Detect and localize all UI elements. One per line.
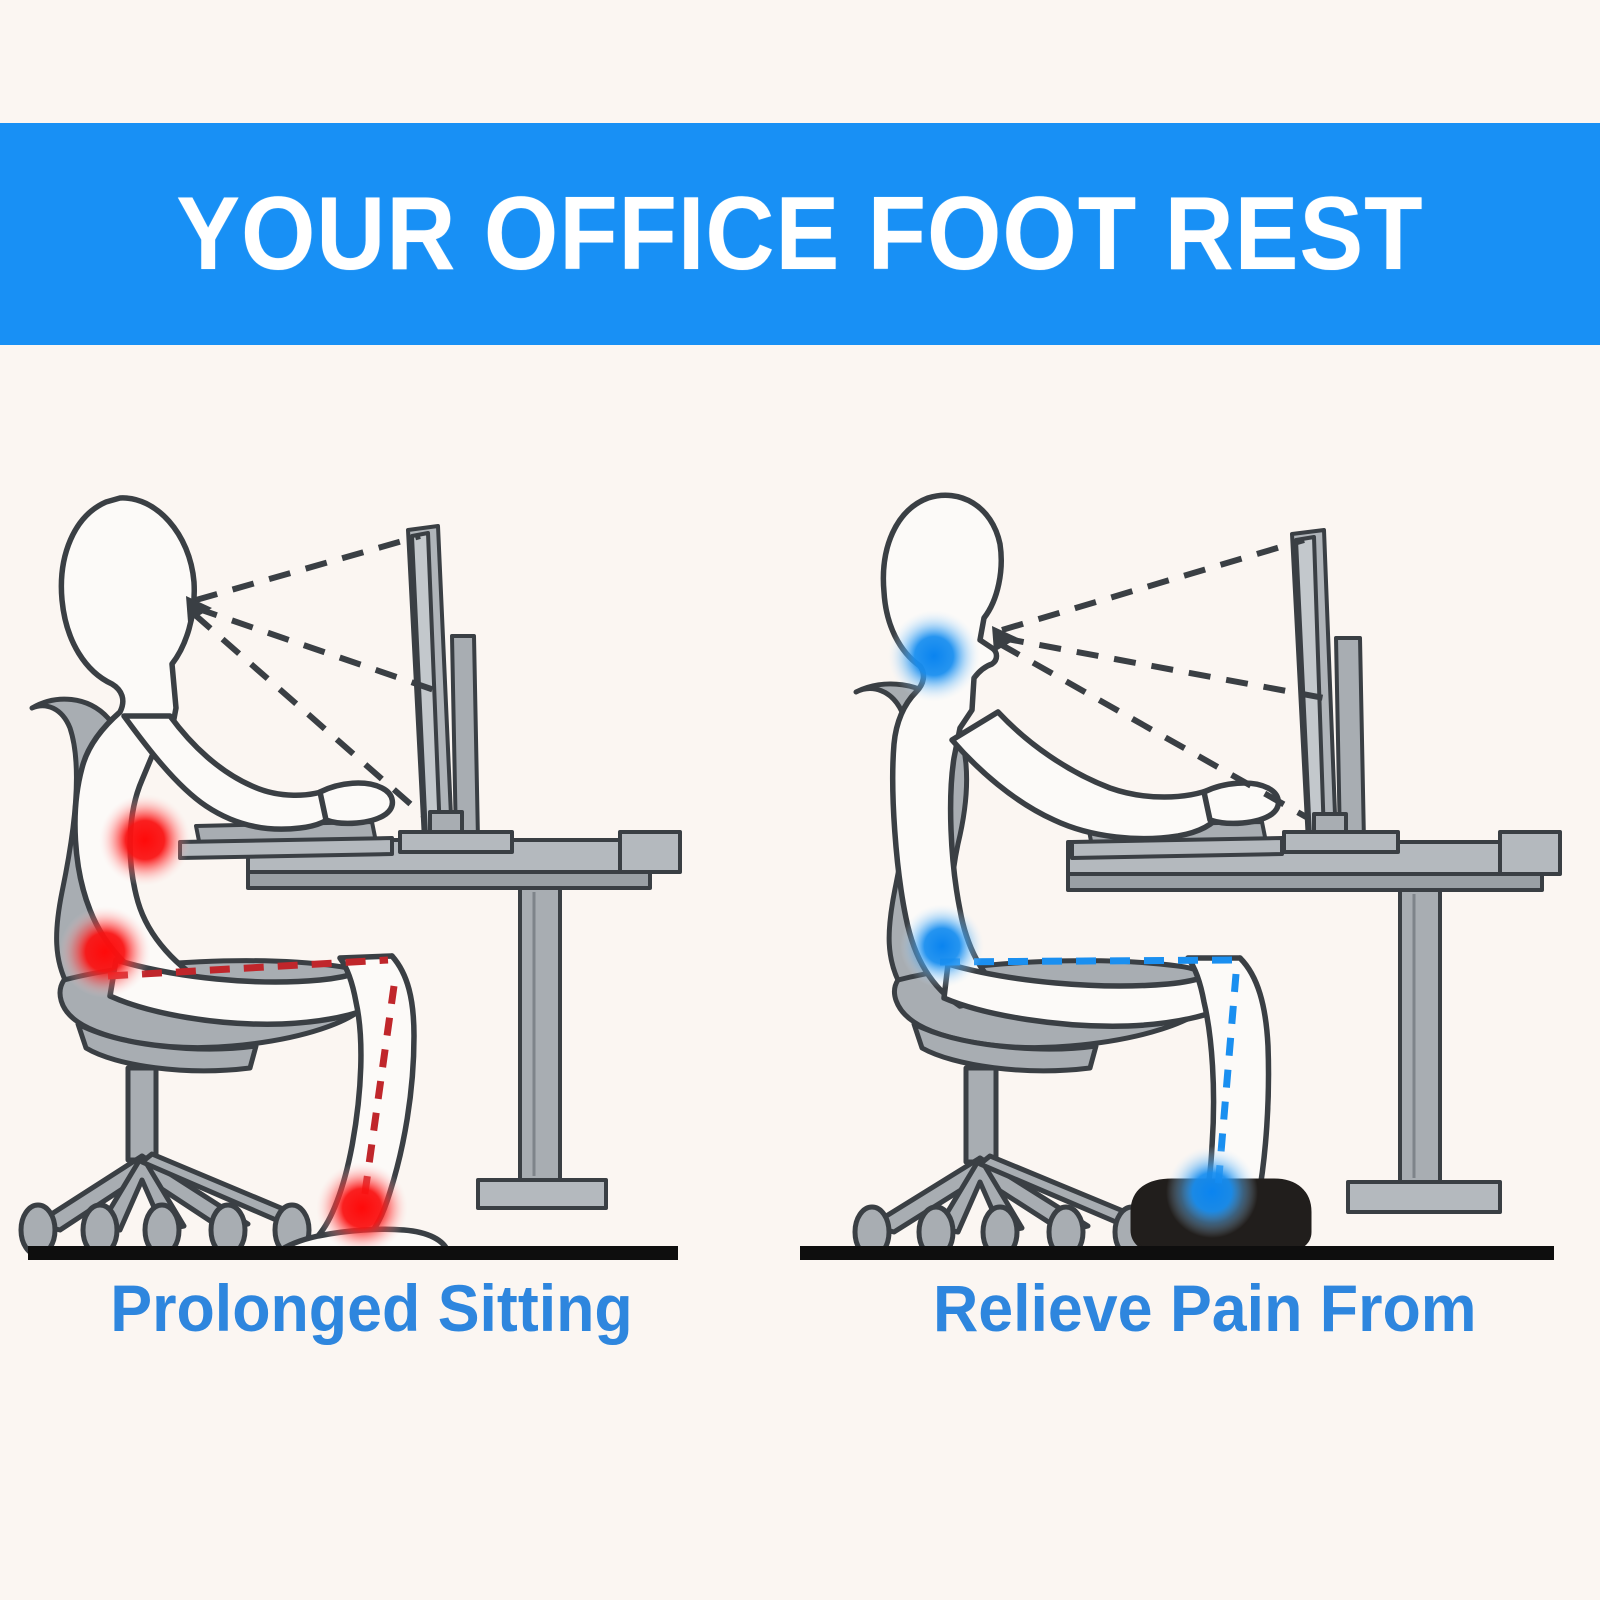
pain-point-lower-back	[59, 906, 151, 998]
relief-point-lower-back	[900, 904, 984, 988]
relief-point-neck-shoulder	[888, 610, 980, 702]
caption-prolonged-sitting: Prolonged Sitting	[20, 1270, 780, 1346]
pain-point-ankle	[316, 1162, 408, 1254]
page-title: YOUR OFFICE FOOT REST	[176, 175, 1423, 294]
monitor-icon	[400, 526, 512, 852]
illustration-prolonged-sitting	[0, 440, 800, 1260]
floor-line-icon	[800, 1246, 1554, 1260]
header-banner: YOUR OFFICE FOOT REST	[0, 123, 1600, 345]
monitor-icon	[1284, 530, 1398, 852]
pain-point-upper-back	[99, 794, 191, 886]
panel-prolonged-sitting: Prolonged Sitting	[0, 440, 800, 1400]
illustration-relieve-pain-from	[800, 440, 1600, 1260]
caption-relieve-pain-from: Relieve Pain From	[820, 1270, 1580, 1346]
relief-point-foot	[1166, 1146, 1258, 1238]
panel-relieve-pain-from: Relieve Pain From	[800, 440, 1600, 1400]
floor-line-icon	[28, 1246, 678, 1260]
